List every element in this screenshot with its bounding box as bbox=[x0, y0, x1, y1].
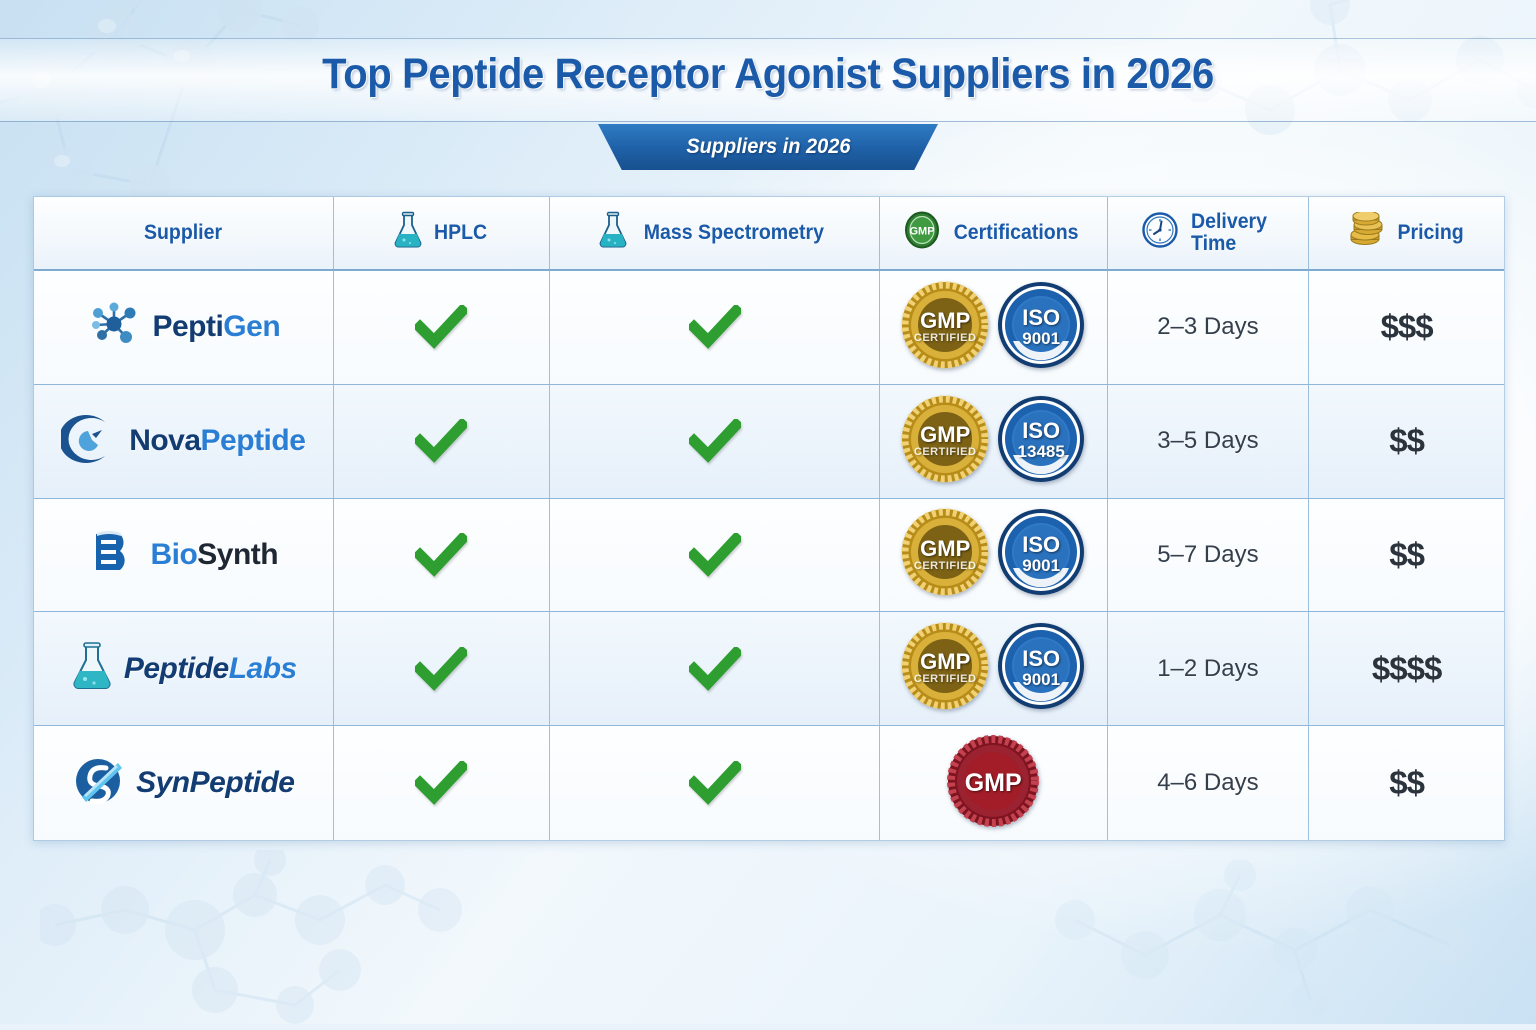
book-b-logo-icon bbox=[88, 526, 140, 583]
column-header-mass-spectrometry: Mass Spectrometry bbox=[550, 197, 880, 269]
pricing-cell: $$$$ bbox=[1309, 612, 1504, 725]
column-header-hplc-label: HPLC bbox=[434, 222, 487, 244]
supplier-name-part1: Syn bbox=[136, 766, 190, 799]
check-icon bbox=[689, 533, 741, 577]
pricing-value: $$ bbox=[1389, 422, 1424, 460]
table-header-row: Supplier HPLC bbox=[34, 197, 1504, 271]
supplier-cell[interactable]: NovaPeptide bbox=[34, 385, 334, 498]
check-icon bbox=[415, 761, 467, 805]
molecule-watermark-bottom-left bbox=[40, 850, 660, 1030]
column-header-supplier: Supplier bbox=[34, 197, 334, 269]
pricing-value: $$ bbox=[1389, 764, 1424, 802]
delivery-time-value: 1–2 Days bbox=[1157, 655, 1258, 683]
check-icon bbox=[689, 419, 741, 463]
pricing-cell: $$ bbox=[1309, 499, 1504, 612]
certifications-cell: GMP CERTIFIED ISO 9001 bbox=[880, 499, 1108, 612]
pricing-value: $$$$ bbox=[1372, 650, 1441, 688]
hplc-cell bbox=[334, 499, 551, 612]
iso-badge-icon: ISO 9001 bbox=[995, 506, 1087, 603]
supplier-name-part2: Gen bbox=[223, 310, 280, 343]
delivery-time-value: 3–5 Days bbox=[1157, 427, 1258, 455]
check-icon bbox=[415, 533, 467, 577]
check-icon bbox=[689, 647, 741, 691]
page-title: Top Peptide Receptor Agonist Suppliers i… bbox=[54, 50, 1482, 99]
supplier-name-part1: Pepti bbox=[152, 310, 223, 343]
check-icon bbox=[689, 305, 741, 349]
delivery-time-cell: 3–5 Days bbox=[1108, 385, 1310, 498]
column-header-hplc: HPLC bbox=[334, 197, 551, 269]
gmp-badge-icon: GMP bbox=[945, 733, 1041, 834]
column-header-certifications-label: Certifications bbox=[953, 222, 1078, 244]
table-row: SynPeptide GMP bbox=[34, 726, 1504, 840]
delivery-time-cell: 2–3 Days bbox=[1108, 271, 1310, 384]
mass-spectrometry-cell bbox=[550, 499, 880, 612]
pricing-value: $$$ bbox=[1381, 308, 1433, 346]
supplier-cell[interactable]: SynPeptide bbox=[34, 726, 334, 840]
pricing-cell: $$ bbox=[1309, 385, 1504, 498]
hplc-cell bbox=[334, 612, 551, 725]
supplier-name-part2: Labs bbox=[229, 652, 297, 685]
gmp-badge-icon: GMP CERTIFIED bbox=[899, 393, 991, 490]
iso-badge-icon: ISO 9001 bbox=[995, 279, 1087, 376]
column-header-pricing-label: Pricing bbox=[1397, 222, 1463, 244]
gmp-badge-icon: GMP CERTIFIED bbox=[899, 620, 991, 717]
svg-text:GMP: GMP bbox=[909, 226, 934, 238]
column-header-delivery-time-label: Delivery Time bbox=[1191, 211, 1271, 255]
column-header-pricing: Pricing bbox=[1309, 197, 1504, 269]
supplier-name-part2: Peptide bbox=[190, 766, 295, 799]
molecule-logo-icon bbox=[86, 299, 142, 356]
hplc-cell bbox=[334, 726, 551, 840]
mass-spectrometry-cell bbox=[550, 271, 880, 384]
flask-icon bbox=[598, 211, 628, 254]
supplier-name-part1: Bio bbox=[150, 538, 197, 571]
check-icon bbox=[689, 761, 741, 805]
supplier-name-part2: Synth bbox=[197, 538, 278, 571]
mass-spectrometry-cell bbox=[550, 385, 880, 498]
supplier-cell[interactable]: PeptideLabs bbox=[34, 612, 334, 725]
supplier-name-part1: Peptide bbox=[124, 652, 229, 685]
delivery-time-cell: 4–6 Days bbox=[1108, 726, 1310, 840]
column-header-supplier-label: Supplier bbox=[144, 222, 222, 244]
check-icon bbox=[415, 305, 467, 349]
delivery-time-value: 5–7 Days bbox=[1157, 541, 1258, 569]
circle-swoosh-logo-icon bbox=[72, 755, 126, 812]
pricing-value: $$ bbox=[1389, 536, 1424, 574]
subtitle-ribbon: Suppliers in 2026 bbox=[598, 124, 938, 170]
table-row: NovaPeptide GMP bbox=[34, 385, 1504, 499]
delivery-time-value: 2–3 Days bbox=[1157, 313, 1258, 341]
mass-spectrometry-cell bbox=[550, 612, 880, 725]
swoosh-globe-logo-icon bbox=[61, 414, 119, 469]
gmp-badge-icon: GMP CERTIFIED bbox=[899, 279, 991, 376]
delivery-time-value: 4–6 Days bbox=[1157, 769, 1258, 797]
supplier-comparison-table: Supplier HPLC bbox=[33, 196, 1505, 841]
delivery-time-cell: 5–7 Days bbox=[1108, 499, 1310, 612]
certifications-cell: GMP bbox=[880, 726, 1108, 840]
certifications-cell: GMP CERTIFIED ISO 9001 bbox=[880, 271, 1108, 384]
pricing-cell: $$$ bbox=[1309, 271, 1504, 384]
hplc-cell bbox=[334, 385, 551, 498]
table-row: PeptideLabs GMP bbox=[34, 612, 1504, 726]
table-row: PeptiGen GMP CE bbox=[34, 271, 1504, 385]
pricing-cell: $$ bbox=[1309, 726, 1504, 840]
certifications-cell: GMP CERTIFIED ISO 13485 bbox=[880, 385, 1108, 498]
supplier-cell[interactable]: PeptiGen bbox=[34, 271, 334, 384]
flask-logo-icon bbox=[70, 640, 114, 697]
column-header-certifications: GMP Certifications bbox=[880, 197, 1108, 269]
mass-spectrometry-cell bbox=[550, 726, 880, 840]
gmp-seal-icon: GMP bbox=[904, 211, 940, 254]
coins-icon bbox=[1348, 212, 1386, 253]
iso-badge-icon: ISO 13485 bbox=[995, 393, 1087, 490]
delivery-time-cell: 1–2 Days bbox=[1108, 612, 1310, 725]
molecule-watermark-bottom-right bbox=[1050, 860, 1520, 1025]
supplier-cell[interactable]: BioSynth bbox=[34, 499, 334, 612]
ribbon-label: Suppliers in 2026 bbox=[686, 135, 850, 159]
check-icon bbox=[415, 419, 467, 463]
check-icon bbox=[415, 647, 467, 691]
table-row: BioSynth GMP CE bbox=[34, 499, 1504, 613]
flask-icon bbox=[393, 211, 423, 254]
hplc-cell bbox=[334, 271, 551, 384]
supplier-name-part1: Nova bbox=[129, 424, 200, 457]
supplier-name-part2: Peptide bbox=[201, 424, 306, 457]
iso-badge-icon: ISO 9001 bbox=[995, 620, 1087, 717]
certifications-cell: GMP CERTIFIED ISO 9001 bbox=[880, 612, 1108, 725]
column-header-mass-spectrometry-label: Mass Spectrometry bbox=[644, 222, 824, 244]
gmp-badge-icon: GMP CERTIFIED bbox=[899, 506, 991, 603]
clock-icon bbox=[1141, 211, 1179, 254]
column-header-delivery-time: Delivery Time bbox=[1108, 197, 1310, 269]
